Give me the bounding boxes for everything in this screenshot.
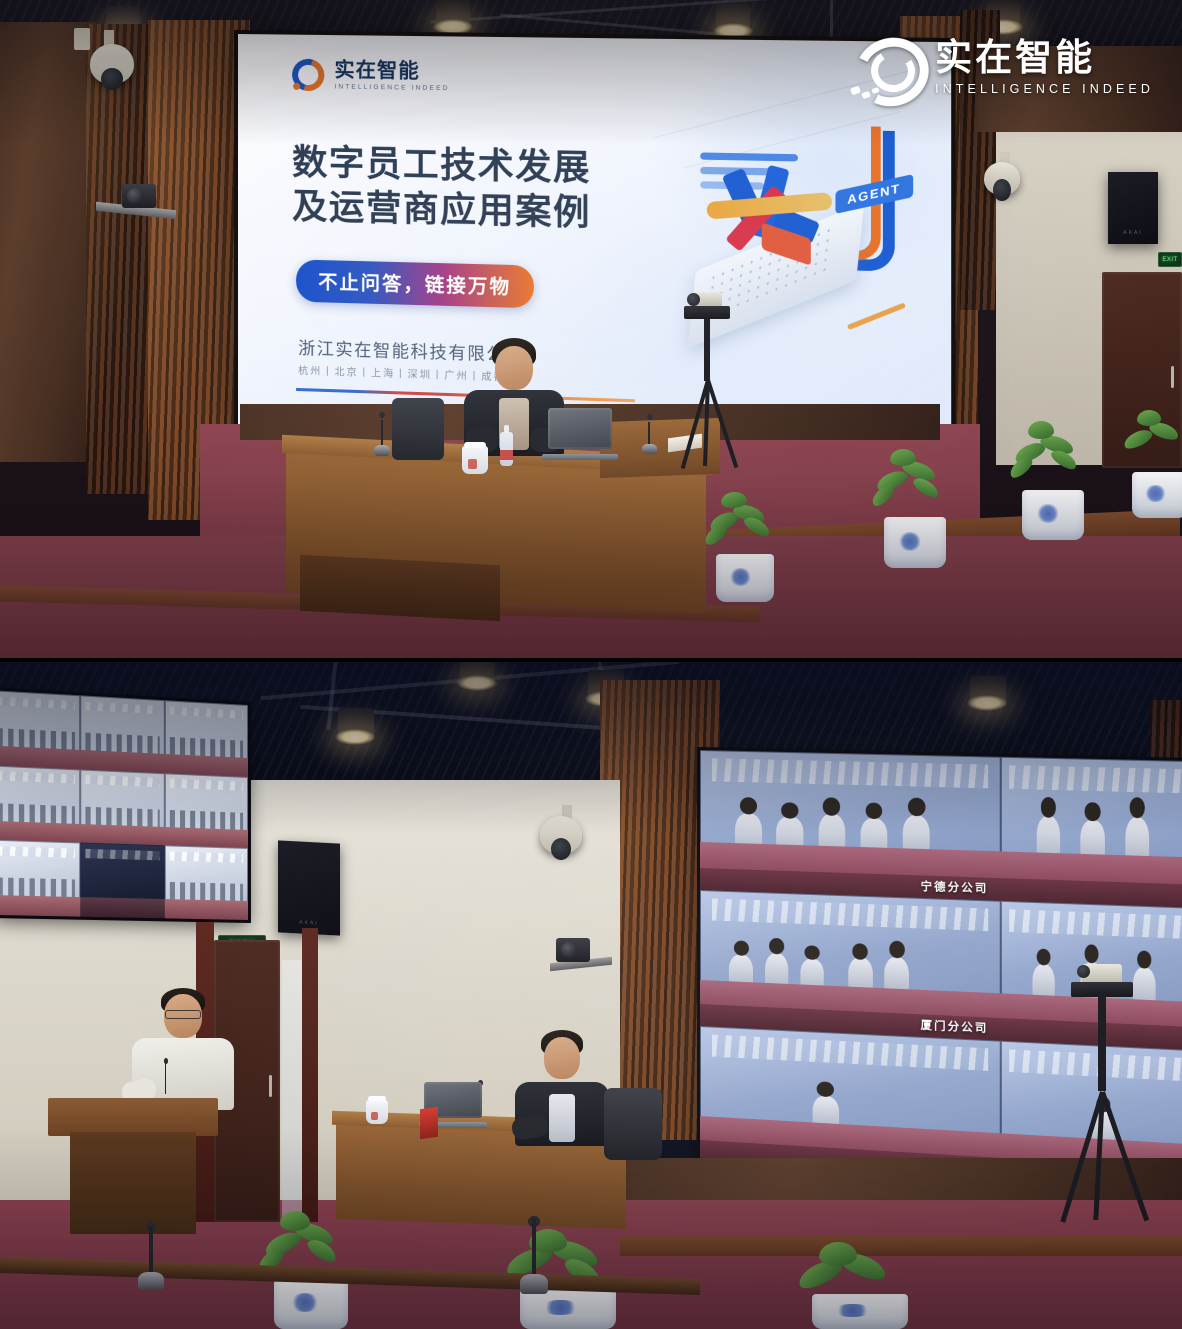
plant-leaves [874,447,956,528]
potted-plant [884,458,946,568]
wall-speaker: AKAI [278,840,340,935]
desk-microphone [374,412,390,456]
plant-pot [884,517,946,568]
wall-speaker-brand: AKAI [1108,230,1158,236]
camera-mount-bracket [74,28,90,50]
microphone-capsule [379,412,385,418]
tripod-column [1098,995,1106,1091]
lectern-body [70,1132,196,1234]
conference-camera [122,184,156,208]
microphone-capsule [647,414,653,420]
microphone-neck [648,422,650,445]
video-cell-label: 厦门分公司 [921,1016,989,1036]
plant-leaves [707,488,784,565]
microphone-neck [532,1219,536,1277]
plant-pot [812,1294,908,1329]
video-cell [0,765,80,843]
brand-watermark-text: 实在智能 INTELLIGENCE INDEED [935,39,1154,96]
slide-logo-en: INTELLIGENCE INDEED [334,83,449,92]
microphone-neck [381,420,383,446]
video-cell [0,840,80,917]
decor-strip [847,302,906,330]
glasses-icon [165,1010,201,1019]
microphone-base [374,445,390,456]
video-cell [165,846,248,920]
microphone-base [138,1272,164,1290]
potted-plant [716,498,774,602]
chair [392,398,444,460]
camera-head [684,306,730,319]
speaker-shirt [549,1094,575,1142]
exit-sign-label: EXIT [1162,257,1177,263]
stage-desk-front-panel [300,555,500,621]
slide-logo: 实在智能 INTELLIGENCE INDEED [290,57,450,96]
brand-name-cn: 实在智能 [935,39,1154,76]
microphone-neck [165,1062,166,1094]
wall-speaker-brand: AKAI [278,918,340,927]
plant-pot [520,1288,616,1329]
video-cell [165,700,248,776]
brand-swirl-icon [290,57,326,94]
tripod-column [704,319,710,381]
slide: 实在智能 INTELLIGENCE INDEED 数字员工技术发展 及运营商应用… [238,34,951,452]
ptz-dome-camera [90,44,134,84]
presenter-head [495,346,533,390]
wall-speaker: AKAI [1108,172,1158,244]
potted-plant [1022,432,1084,540]
slide-logo-cn: 实在智能 [334,60,449,82]
curtain-sheen [86,24,156,494]
ptz-dome-camera [984,162,1020,195]
video-cell-xiamen: 厦门分公司 [700,890,1001,1041]
plant-pot [274,1279,348,1329]
left-wall-panel [0,22,96,462]
video-cell-label: 宁德分公司 [921,877,989,896]
presentation-screen: 实在智能 INTELLIGENCE INDEED 数字员工技术发展 及运营商应用… [238,34,951,452]
ptz-dome-camera [540,816,582,854]
door-frame [302,928,318,1222]
name-placard [420,1107,438,1140]
tea-cup [366,1100,388,1124]
lectern-top [48,1098,218,1136]
potted-plant [812,1252,908,1329]
tripod-leg [706,379,738,468]
tripod-leg [1100,1091,1149,1221]
laptop [548,408,612,460]
exit-sign: EXIT [1158,252,1182,267]
laptop-lid [548,408,612,449]
tripod-camera-rig [1054,982,1150,1232]
ceiling-downlight [970,676,1006,706]
microphone-base [642,444,657,454]
speaker-seated [512,1032,612,1146]
plant-leaves [797,1244,924,1301]
brand-swirl-icon [849,34,921,100]
video-cell-ningde: 宁德分公司 [700,750,1001,901]
tripod-camera-rig [672,306,742,470]
plant-pot [1132,472,1182,518]
foreground-microphone [138,1222,164,1290]
video-cell [0,690,80,769]
slide-tagline-badge: 不止问答，链接万物 [296,259,534,308]
video-cell [80,843,165,918]
brand-name-en: INTELLIGENCE INDEED [935,82,1154,96]
photo-panel-video-conference: AKAI 安全出口 EXIT 宁德分公司 [0,660,1182,1329]
camera-lens [1082,964,1122,984]
foreground-microphone [520,1216,548,1294]
ceiling-downlight [338,708,374,740]
water-bottle [500,432,513,466]
curtain-left-dark [86,24,156,494]
video-cell [165,773,248,849]
ceiling-downlight [716,4,750,34]
plant-pot [1022,490,1084,540]
brand-watermark: 实在智能 INTELLIGENCE INDEED [849,34,1154,100]
slide-title-line2: 及运营商应用案例 [292,185,725,239]
desk-microphone [642,414,657,454]
lectern-microphone [160,1058,172,1104]
microphone-base [520,1274,548,1294]
glass-panel [282,960,304,1222]
plant-leaves [1123,408,1182,482]
slide-title: 数字员工技术发展 及运营商应用案例 [292,141,725,240]
speaker-standing [128,990,238,1110]
laptop-base [542,454,618,460]
video-cell [80,695,165,773]
plant-pot [716,554,774,602]
decor-line [700,152,798,161]
conference-camera [556,938,590,962]
ceiling-downlight [436,0,470,30]
ceiling-downlight [460,660,494,686]
tea-cup [462,446,488,474]
video-cell-aux-1 [1001,757,1182,908]
plant-leaves [1012,421,1094,501]
photo-composite: AKAI EXIT [0,0,1182,1329]
panel-divider [0,658,1182,662]
speaker-head [544,1037,580,1079]
potted-plant [1132,418,1182,518]
video-monitor-left [0,690,248,920]
video-cell [80,769,165,846]
microphone-neck [149,1226,153,1275]
chair [604,1088,662,1160]
